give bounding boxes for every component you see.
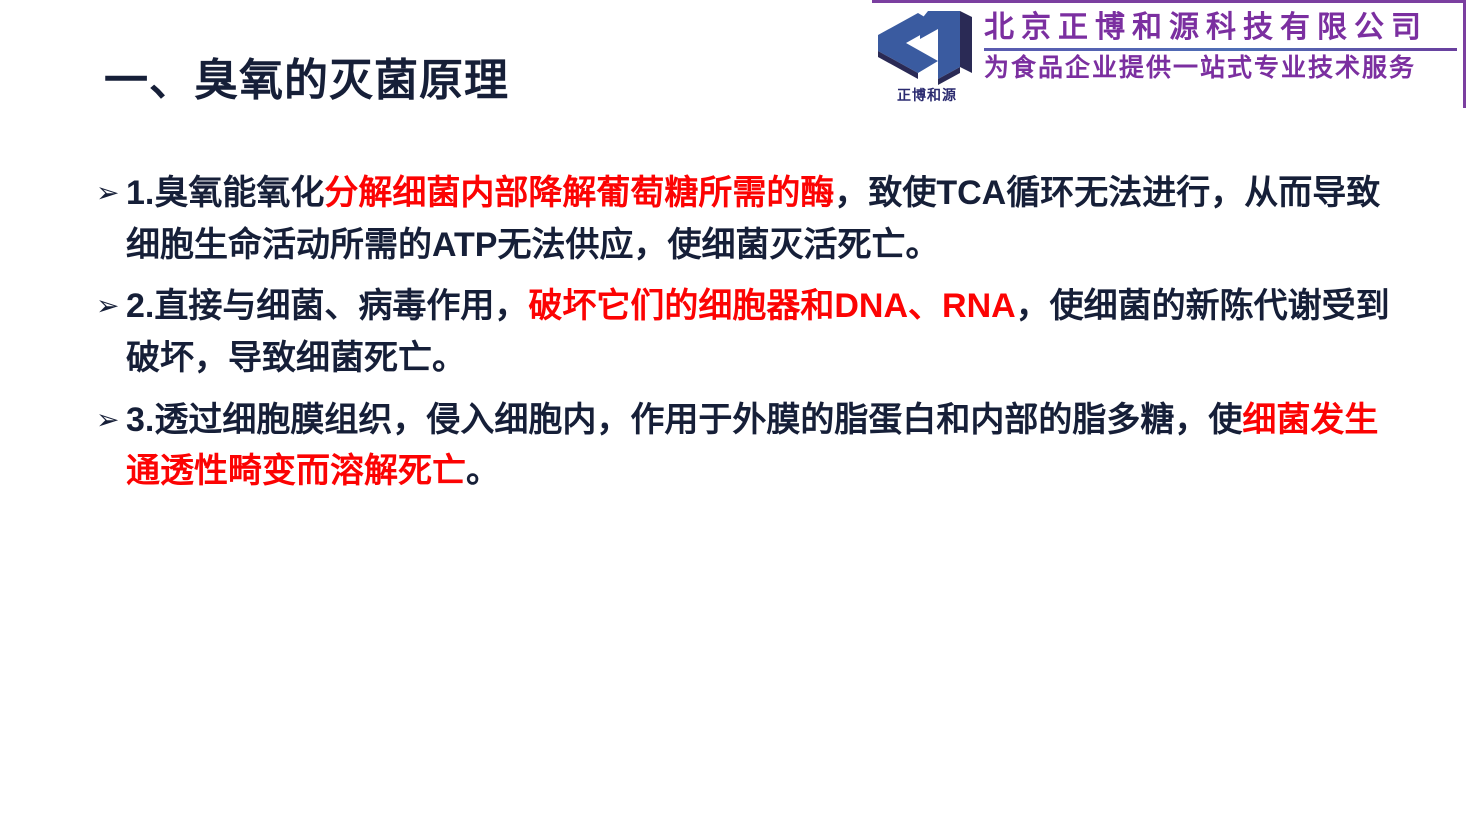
bullet-text: 2.直接与细菌、病毒作用，破坏它们的细胞器和DNA、RNA，使细菌的新陈代谢受到… (126, 281, 1406, 384)
bullet-text-normal: 。 (466, 452, 500, 490)
bullet-text-normal: 1.臭氧能氧化 (126, 174, 324, 212)
company-text-block: 北京正博和源科技有限公司 为食品企业提供一站式专业技术服务 (984, 3, 1463, 82)
bullet-text-highlight: 分解细菌内部降解葡萄糖所需的酶 (324, 174, 834, 212)
bullet-item: ➢3.透过细胞膜组织，侵入细胞内，作用于外膜的脂蛋白和内部的脂多糖，使细菌发生通… (96, 395, 1406, 498)
bullet-item: ➢1.臭氧能氧化分解细菌内部降解葡萄糖所需的酶，致使TCA循环无法进行，从而导致… (96, 168, 1406, 271)
bullet-item: ➢2.直接与细菌、病毒作用，破坏它们的细胞器和DNA、RNA，使细菌的新陈代谢受… (96, 281, 1406, 384)
bullet-list: ➢1.臭氧能氧化分解细菌内部降解葡萄糖所需的酶，致使TCA循环无法进行，从而导致… (96, 168, 1406, 508)
bullet-arrow-icon: ➢ (96, 168, 126, 215)
bullet-text-normal: 3.透过细胞膜组织，侵入细胞内，作用于外膜的脂蛋白和内部的脂多糖，使 (126, 401, 1242, 439)
bullet-arrow-icon: ➢ (96, 395, 126, 442)
bullet-text-highlight: 破坏它们的细胞器和DNA、RNA (528, 287, 1015, 325)
bullet-text: 1.臭氧能氧化分解细菌内部降解葡萄糖所需的酶，致使TCA循环无法进行，从而导致细… (126, 168, 1406, 271)
company-divider (984, 48, 1457, 51)
bullet-text: 3.透过细胞膜组织，侵入细胞内，作用于外膜的脂蛋白和内部的脂多糖，使细菌发生通透… (126, 395, 1406, 498)
bullet-arrow-icon: ➢ (96, 281, 126, 328)
page-title: 一、臭氧的灭菌原理 (104, 44, 509, 108)
company-header-block: 正博和源 北京正博和源科技有限公司 为食品企业提供一站式专业技术服务 (872, 0, 1466, 108)
logo-brand-text: 正博和源 (872, 85, 982, 105)
company-name: 北京正博和源科技有限公司 (984, 11, 1457, 45)
bullet-text-normal: 2.直接与细菌、病毒作用， (126, 287, 528, 325)
company-logo: 正博和源 (872, 3, 984, 109)
zhengbo-heyuan-logo-icon (876, 9, 980, 85)
company-tagline: 为食品企业提供一站式专业技术服务 (984, 55, 1457, 83)
